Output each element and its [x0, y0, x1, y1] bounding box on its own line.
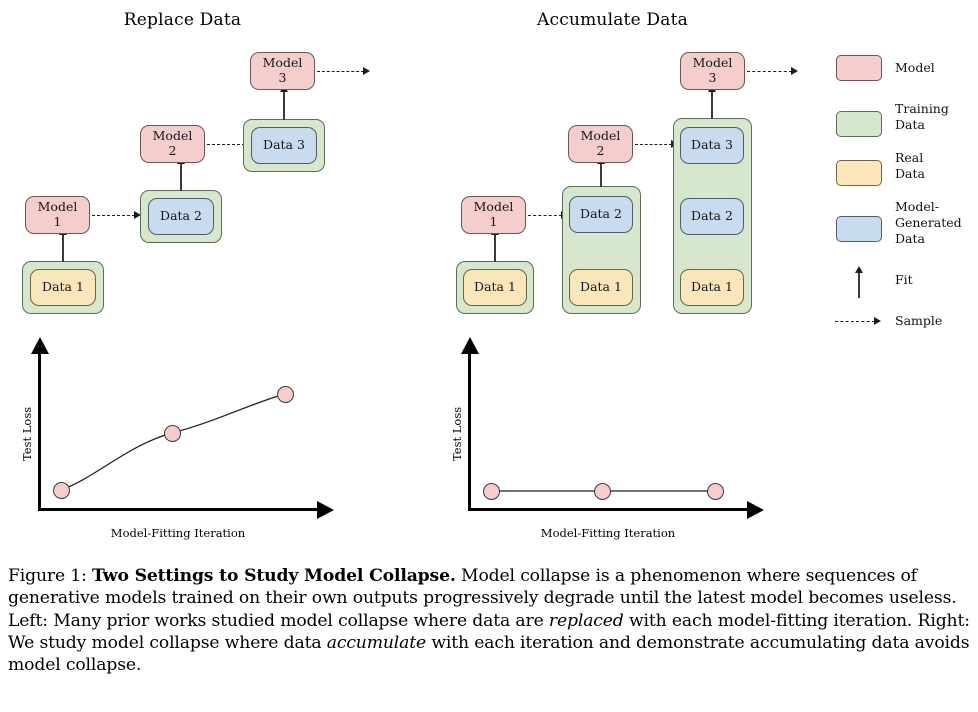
plot-right-x-axis-label: Model-Fitting Iteration: [508, 526, 708, 540]
plot-left-datapoint-3: [277, 386, 294, 403]
plot-accumulate-data: Test Loss Model-Fitting Iteration: [430, 330, 830, 552]
model-box-3: Model 3: [250, 52, 315, 90]
legend: Model Training Data Real Data Model- Gen…: [833, 40, 978, 330]
plot-left-x-axis-label: Model-Fitting Iteration: [78, 526, 278, 540]
plot-right-datapoint-1: [483, 483, 500, 500]
caption-bold-title: Two Settings to Study Model Collapse.: [92, 566, 456, 586]
acc-fit-line-3: [711, 91, 713, 119]
sample-line-1: [92, 215, 135, 216]
acc-sample-arrowhead-3: [791, 67, 798, 75]
legend-label-fit: Fit: [895, 272, 913, 288]
plot-left-curve: [0, 330, 400, 552]
fit-line-2: [180, 163, 182, 191]
figure-1-graphic: Replace Data Accumulate Data Data 1 Mode…: [0, 0, 978, 552]
sample-arrowhead-3: [363, 67, 370, 75]
training-data-container-2: [140, 190, 222, 243]
legend-label-training-data: Training Data: [895, 101, 949, 133]
acc-model-box-1: Model 1: [461, 196, 526, 234]
acc-training-data-container-2: [562, 186, 641, 314]
panel-title-replace-data: Replace Data: [110, 10, 255, 30]
plot-replace-data: Test Loss Model-Fitting Iteration: [0, 330, 400, 552]
legend-label-model: Model: [895, 60, 935, 76]
plot-left-datapoint-1: [53, 482, 70, 499]
plot-right-y-axis-label: Test Loss: [450, 407, 464, 461]
panel-title-accumulate-data: Accumulate Data: [525, 10, 700, 30]
acc-sample-line-2: [635, 144, 672, 145]
acc-training-data-container-1: [456, 261, 534, 314]
plot-left-y-axis-label: Test Loss: [20, 407, 34, 461]
plot-right-datapoint-2: [594, 483, 611, 500]
legend-swatch-model-generated-data: [836, 216, 882, 242]
training-data-container-1: [22, 261, 104, 314]
acc-sample-line-3: [747, 71, 792, 72]
figure-caption: Figure 1: Two Settings to Study Model Co…: [8, 565, 970, 677]
plot-right-curve: [430, 330, 830, 552]
acc-fit-line-2: [600, 163, 602, 187]
legend-swatch-training-data: [836, 111, 882, 137]
legend-label-sample: Sample: [895, 313, 942, 329]
model-box-2: Model 2: [140, 125, 205, 163]
acc-fit-line-1: [494, 234, 496, 262]
acc-model-box-2: Model 2: [568, 125, 633, 163]
acc-model-box-3: Model 3: [680, 52, 745, 90]
plot-left-datapoint-2: [164, 425, 181, 442]
training-data-container-3: [243, 119, 325, 172]
plot-right-datapoint-3: [707, 483, 724, 500]
acc-sample-line-1: [528, 215, 562, 216]
fit-line-3: [283, 91, 285, 120]
legend-swatch-model: [836, 55, 882, 81]
legend-label-real-data: Real Data: [895, 150, 925, 182]
caption-prefix: Figure 1:: [8, 566, 92, 586]
acc-training-data-container-3: [673, 118, 752, 314]
model-box-1: Model 1: [25, 196, 90, 234]
legend-swatch-real-data: [836, 160, 882, 186]
caption-italic-replaced: replaced: [549, 611, 624, 631]
fit-line-1: [62, 234, 64, 262]
caption-italic-accumulate: accumulate: [327, 633, 426, 653]
sample-line-3: [317, 71, 364, 72]
legend-label-model-generated-data: Model- Generated Data: [895, 199, 962, 247]
